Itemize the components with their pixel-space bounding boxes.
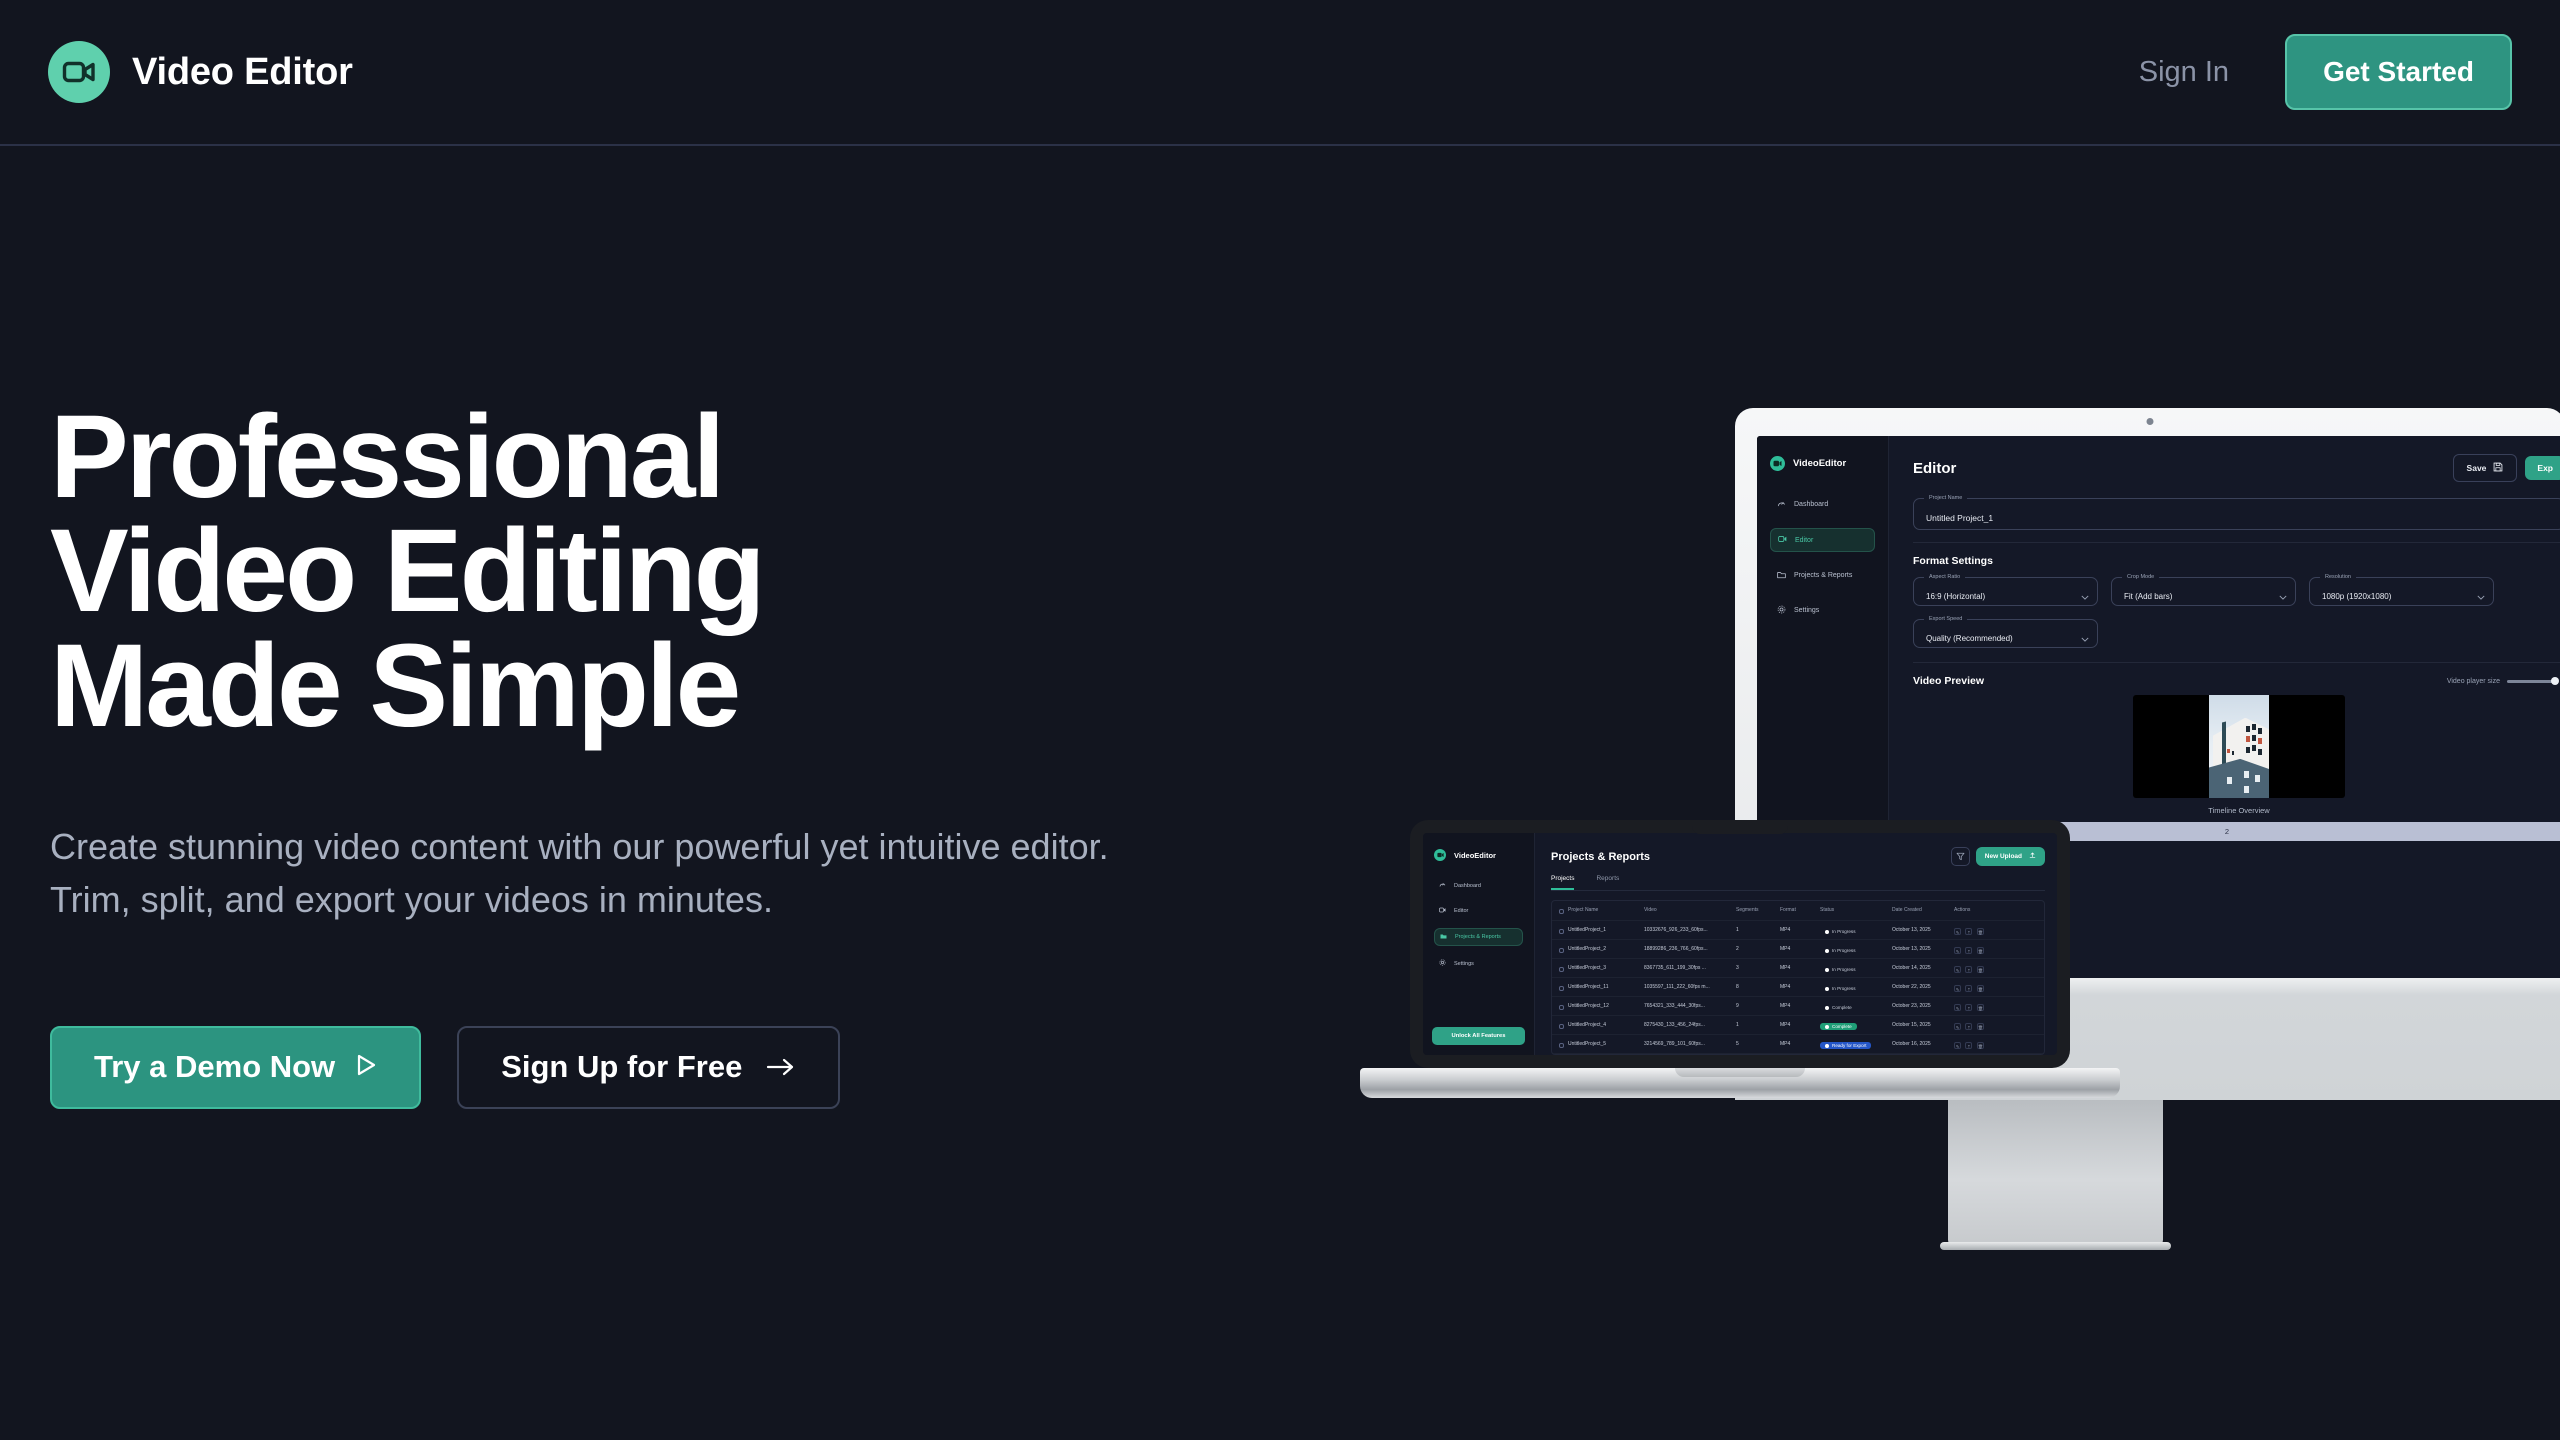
- projects-sidebar: VideoEditor Dashboard Editor: [1423, 833, 1535, 1055]
- video-camera-icon: [1434, 849, 1446, 861]
- cell-format: MP4: [1780, 1034, 1820, 1053]
- cell-segments: 1: [1736, 1015, 1780, 1034]
- cell-status: Complete: [1820, 996, 1892, 1015]
- col-date-created[interactable]: Date Created: [1892, 901, 1954, 920]
- cell-actions: ✎ ⇡ 🗑: [1954, 939, 2044, 958]
- row-checkbox[interactable]: [1552, 1053, 1568, 1055]
- cell-segments: 3: [1736, 958, 1780, 977]
- cell-status: Ready for Export: [1820, 1053, 1892, 1055]
- projects-main: Projects & Reports New Upload: [1535, 833, 2057, 1055]
- laptop-screen: VideoEditor Dashboard Editor: [1423, 833, 2057, 1055]
- row-checkbox[interactable]: [1552, 1015, 1568, 1034]
- gear-icon: [1777, 605, 1786, 616]
- export-icon[interactable]: ⇡: [1965, 928, 1972, 935]
- app-brand-name: VideoEditor: [1793, 458, 1846, 469]
- cell-format: MP4: [1780, 920, 1820, 939]
- edit-icon[interactable]: ✎: [1954, 1004, 1961, 1011]
- cell-status: In Progress: [1820, 977, 1892, 996]
- status-badge: In Progress: [1820, 966, 1861, 973]
- cell-video: 8367735_611_199_30fps ...: [1644, 958, 1736, 977]
- row-checkbox[interactable]: [1552, 1034, 1568, 1053]
- edit-icon[interactable]: ✎: [1954, 928, 1961, 935]
- header-actions: Sign In Get Started: [2139, 34, 2512, 110]
- save-button[interactable]: Save: [2453, 454, 2518, 482]
- editor-page-title: Editor: [1913, 460, 1956, 477]
- projects-page-title: Projects & Reports: [1551, 851, 1650, 863]
- cell-status: In Progress: [1820, 958, 1892, 977]
- aspect-ratio-value: 16:9 (Horizontal): [1926, 592, 1985, 601]
- table-row[interactable]: UntitledProject_110332676_926_233_60fps.…: [1552, 920, 2044, 939]
- app-brand-name: VideoEditor: [1454, 851, 1496, 860]
- cell-format: MP4: [1780, 1015, 1820, 1034]
- cell-segments: 1: [1736, 920, 1780, 939]
- cell-format: MP4: [1780, 977, 1820, 996]
- sidebar-item-label: Editor: [1795, 537, 1813, 544]
- delete-icon[interactable]: 🗑: [1977, 985, 1984, 992]
- col-actions: Actions: [1954, 901, 2044, 920]
- row-checkbox[interactable]: [1552, 977, 1568, 996]
- new-upload-button[interactable]: New Upload: [1976, 847, 2045, 866]
- cell-actions: ✎ ⇡ 🗑: [1954, 977, 2044, 996]
- cell-project-name: UntitledProject_2: [1568, 939, 1644, 958]
- edit-icon[interactable]: ✎: [1954, 966, 1961, 973]
- sidebar-item-projects-reports[interactable]: Projects & Reports: [1770, 564, 1875, 587]
- row-checkbox[interactable]: [1552, 920, 1568, 939]
- sign-in-button[interactable]: Sign In: [2139, 56, 2229, 89]
- video-player-size-label: Video player size: [2447, 678, 2500, 685]
- cell-date-created: October 13, 2025: [1892, 920, 1954, 939]
- landing-page: Video Editor Sign In Get Started Profess…: [0, 0, 2560, 1440]
- cell-project-name: UntitledProject_12: [1568, 996, 1644, 1015]
- table-row[interactable]: UntitledProject_48275430_133_456_24fps..…: [1552, 1015, 2044, 1034]
- tab-reports[interactable]: Reports: [1596, 875, 1619, 890]
- col-segments[interactable]: Segments: [1736, 901, 1780, 920]
- cell-date-created: October 22, 2025: [1892, 977, 1954, 996]
- export-speed-select[interactable]: Export Speed Quality (Recommended): [1913, 619, 2098, 648]
- laptop-body: VideoEditor Dashboard Editor: [1410, 820, 2070, 1068]
- export-icon[interactable]: ⇡: [1965, 947, 1972, 954]
- sidebar-item-label: Dashboard: [1794, 501, 1828, 508]
- col-status[interactable]: Status: [1820, 901, 1892, 920]
- device-mockups: VideoEditor Dashboard Editor: [1360, 380, 2560, 1200]
- gear-icon: [1439, 959, 1446, 968]
- cell-status: In Progress: [1820, 939, 1892, 958]
- edit-icon[interactable]: ✎: [1954, 985, 1961, 992]
- arrow-right-icon: [766, 1049, 796, 1085]
- video-camera-icon: [1770, 456, 1785, 471]
- cell-segments: 8: [1736, 977, 1780, 996]
- chevron-down-icon: [2279, 587, 2287, 605]
- sidebar-item-editor[interactable]: Editor: [1434, 903, 1523, 919]
- status-badge: Complete: [1820, 1023, 1857, 1030]
- cell-video: 1035597_111_222_60fps m...: [1644, 977, 1736, 996]
- export-icon[interactable]: ⇡: [1965, 1004, 1972, 1011]
- headline-line-2: Video Editing: [50, 514, 1110, 628]
- video-icon: [1778, 535, 1787, 545]
- hero-subtitle: Create stunning video content with our p…: [50, 821, 1110, 925]
- cell-actions: ✎ ⇡ 🗑: [1954, 1015, 2044, 1034]
- cell-video: 7654321_333_444_30fps...: [1644, 996, 1736, 1015]
- cell-format: MP4: [1780, 958, 1820, 977]
- upload-icon: [2029, 852, 2036, 861]
- select-all-checkbox[interactable]: [1552, 901, 1568, 920]
- floppy-disk-icon: [2493, 462, 2503, 474]
- brand-name: Video Editor: [132, 51, 353, 94]
- row-checkbox[interactable]: [1552, 958, 1568, 977]
- cell-status: Ready for Export: [1820, 1034, 1892, 1053]
- video-preview-title: Video Preview: [1913, 675, 1984, 687]
- delete-icon[interactable]: 🗑: [1977, 966, 1984, 973]
- new-upload-label: New Upload: [1985, 853, 2022, 860]
- laptop-base: [1360, 1068, 2120, 1098]
- projects-nav: Dashboard Editor Projects & Reports: [1434, 877, 1523, 972]
- export-icon[interactable]: ⇡: [1965, 966, 1972, 973]
- row-checkbox[interactable]: [1552, 939, 1568, 958]
- cell-format: MP4: [1780, 1053, 1820, 1055]
- status-badge: In Progress: [1820, 985, 1861, 992]
- cell-date-created: October 14, 2025: [1892, 958, 1954, 977]
- cell-video: 10332676_926_233_60fps...: [1644, 920, 1736, 939]
- delete-icon[interactable]: 🗑: [1977, 1004, 1984, 1011]
- cell-date-created: October 17, 2025: [1892, 1053, 1954, 1055]
- headline-line-1: Professional: [50, 400, 1110, 514]
- export-icon[interactable]: ⇡: [1965, 1042, 1972, 1049]
- cell-format: MP4: [1780, 939, 1820, 958]
- cell-date-created: October 13, 2025: [1892, 939, 1954, 958]
- cell-project-name: UntitledProject_3: [1568, 958, 1644, 977]
- delete-icon[interactable]: 🗑: [1977, 1042, 1984, 1049]
- cell-segments: 2: [1736, 1053, 1780, 1055]
- status-badge: Complete: [1820, 1004, 1857, 1011]
- cell-status: Complete: [1820, 1015, 1892, 1034]
- video-player-size-slider[interactable]: [2507, 677, 2559, 685]
- row-checkbox[interactable]: [1552, 996, 1568, 1015]
- brand[interactable]: Video Editor: [48, 41, 353, 103]
- project-name-field[interactable]: Project Name Untitled Project_1: [1913, 498, 2560, 530]
- projects-tabs: Projects Reports: [1551, 875, 2045, 891]
- cell-status: In Progress: [1820, 920, 1892, 939]
- cell-project-name: UntitledProject_6: [1568, 1053, 1644, 1055]
- video-preview-player[interactable]: [2133, 695, 2345, 798]
- sign-up-free-label: Sign Up for Free: [501, 1049, 742, 1085]
- table-row[interactable]: UntitledProject_66549873_456_321_30fps..…: [1552, 1053, 2044, 1055]
- sidebar-item-label: Settings: [1454, 961, 1474, 967]
- delete-icon[interactable]: 🗑: [1977, 1023, 1984, 1030]
- cell-actions: ✎ ⇡ 🗑: [1954, 1053, 2044, 1055]
- folder-icon: [1777, 570, 1786, 581]
- gauge-icon: [1777, 499, 1786, 510]
- folder-icon: [1440, 933, 1447, 941]
- status-badge: In Progress: [1820, 928, 1861, 935]
- sign-up-free-button[interactable]: Sign Up for Free: [457, 1026, 840, 1109]
- laptop-notch: [1692, 820, 1788, 834]
- cell-segments: 2: [1736, 939, 1780, 958]
- headline-line-3: Made Simple: [50, 629, 1110, 743]
- tab-projects[interactable]: Projects: [1551, 875, 1574, 890]
- table-row[interactable]: UntitledProject_53214569_789_101_60fps..…: [1552, 1034, 2044, 1053]
- sidebar-item-settings[interactable]: Settings: [1434, 955, 1523, 972]
- cell-video: 6549873_456_321_30fps...: [1644, 1053, 1736, 1055]
- crop-mode-value: Fit (Add bars): [2124, 592, 2172, 601]
- chevron-down-icon: [2081, 587, 2089, 605]
- table-head: Project Name Video Segments Format Statu…: [1552, 901, 2044, 920]
- export-icon[interactable]: ⇡: [1965, 1023, 1972, 1030]
- unlock-all-features-button[interactable]: Unlock All Features: [1432, 1027, 1525, 1045]
- video-camera-icon: [48, 41, 110, 103]
- edit-icon[interactable]: ✎: [1954, 947, 1961, 954]
- export-speed-value: Quality (Recommended): [1926, 634, 2013, 643]
- edit-icon[interactable]: ✎: [1954, 1042, 1961, 1049]
- sidebar-item-editor[interactable]: Editor: [1770, 528, 1875, 552]
- gauge-icon: [1439, 881, 1446, 890]
- cell-project-name: UntitledProject_11: [1568, 977, 1644, 996]
- crop-mode-label: Crop Mode: [2122, 574, 2159, 580]
- table-row[interactable]: UntitledProject_38367735_611_199_30fps .…: [1552, 958, 2044, 977]
- project-name-label: Project Name: [1924, 495, 1967, 501]
- save-label: Save: [2467, 463, 2487, 473]
- table-row[interactable]: UntitledProject_127654321_333_444_30fps.…: [1552, 996, 2044, 1015]
- cell-project-name: UntitledProject_5: [1568, 1034, 1644, 1053]
- status-badge: In Progress: [1820, 947, 1861, 954]
- crop-mode-select[interactable]: Crop Mode Fit (Add bars): [2111, 577, 2296, 606]
- cta-row: Try a Demo Now Sign Up for Free: [50, 1026, 1110, 1109]
- delete-icon[interactable]: 🗑: [1977, 928, 1984, 935]
- sidebar-item-dashboard[interactable]: Dashboard: [1434, 877, 1523, 894]
- editor-nav: Dashboard Editor Projects & Reports: [1770, 493, 1875, 622]
- cell-actions: ✎ ⇡ 🗑: [1954, 996, 2044, 1015]
- cell-video: 3214569_789_101_60fps...: [1644, 1034, 1736, 1053]
- resolution-label: Resolution: [2320, 574, 2356, 580]
- export-button[interactable]: Exp: [2525, 456, 2560, 480]
- sidebar-item-label: Projects & Reports: [1794, 572, 1852, 579]
- cell-date-created: October 15, 2025: [1892, 1015, 1954, 1034]
- cell-project-name: UntitledProject_4: [1568, 1015, 1644, 1034]
- site-header: Video Editor Sign In Get Started: [0, 0, 2560, 146]
- cell-video: 8275430_133_456_24fps...: [1644, 1015, 1736, 1034]
- sidebar-item-settings[interactable]: Settings: [1770, 599, 1875, 622]
- cell-date-created: October 23, 2025: [1892, 996, 1954, 1015]
- sidebar-item-label: Settings: [1794, 607, 1819, 614]
- cell-format: MP4: [1780, 996, 1820, 1015]
- col-project-name[interactable]: Project Name: [1568, 901, 1644, 920]
- delete-icon[interactable]: 🗑: [1977, 947, 1984, 954]
- try-demo-button[interactable]: Try a Demo Now: [50, 1026, 421, 1109]
- monitor-stand: [1948, 1100, 2163, 1245]
- video-icon: [1439, 907, 1446, 915]
- col-video[interactable]: Video: [1644, 901, 1736, 920]
- table-row[interactable]: UntitledProject_218899286_236_766_60fps.…: [1552, 939, 2044, 958]
- cell-project-name: UntitledProject_1: [1568, 920, 1644, 939]
- edit-icon[interactable]: ✎: [1954, 1023, 1961, 1030]
- projects-app: VideoEditor Dashboard Editor: [1423, 833, 2057, 1055]
- funnel-icon[interactable]: [1951, 847, 1970, 866]
- export-label: Exp: [2537, 463, 2553, 473]
- aspect-ratio-select[interactable]: Aspect Ratio 16:9 (Horizontal): [1913, 577, 2098, 606]
- status-badge: Ready for Export: [1820, 1042, 1871, 1049]
- editor-topbar: Editor Save Exp: [1913, 454, 2560, 482]
- sidebar-item-label: Editor: [1454, 908, 1468, 914]
- project-name-value: Untitled Project_1: [1926, 513, 1993, 523]
- export-speed-label: Export Speed: [1924, 616, 1967, 622]
- try-demo-label: Try a Demo Now: [94, 1049, 335, 1085]
- sidebar-item-dashboard[interactable]: Dashboard: [1770, 493, 1875, 516]
- webcam-dot-icon: [2147, 418, 2154, 425]
- laptop-mockup: VideoEditor Dashboard Editor: [1360, 820, 2120, 1110]
- page-title: Professional Video Editing Made Simple: [50, 400, 1110, 743]
- cell-actions: ✎ ⇡ 🗑: [1954, 958, 2044, 977]
- app-brand: VideoEditor: [1770, 456, 1875, 471]
- table-body: UntitledProject_110332676_926_233_60fps.…: [1552, 920, 2044, 1055]
- sidebar-item-label: Projects & Reports: [1455, 934, 1501, 940]
- app-brand: VideoEditor: [1434, 849, 1523, 861]
- col-format[interactable]: Format: [1780, 901, 1820, 920]
- format-settings-title: Format Settings: [1913, 555, 2560, 567]
- projects-table: Project Name Video Segments Format Statu…: [1552, 901, 2044, 1055]
- cell-segments: 9: [1736, 996, 1780, 1015]
- aspect-ratio-label: Aspect Ratio: [1924, 574, 1965, 580]
- export-icon[interactable]: ⇡: [1965, 985, 1972, 992]
- resolution-select[interactable]: Resolution 1080p (1920x1080): [2309, 577, 2494, 606]
- play-triangle-icon: [355, 1049, 377, 1085]
- chevron-down-icon: [2081, 629, 2089, 647]
- sidebar-item-label: Dashboard: [1454, 883, 1481, 889]
- resolution-value: 1080p (1920x1080): [2322, 592, 2391, 601]
- cell-video: 18899286_236_766_60fps...: [1644, 939, 1736, 958]
- preview-thumbnail: [2209, 695, 2269, 798]
- projects-table-wrap: Project Name Video Segments Format Statu…: [1551, 900, 2045, 1055]
- cell-actions: ✎ ⇡ 🗑: [1954, 920, 2044, 939]
- hero-section: Professional Video Editing Made Simple C…: [50, 400, 1110, 1109]
- cell-segments: 5: [1736, 1034, 1780, 1053]
- cell-date-created: October 16, 2025: [1892, 1034, 1954, 1053]
- sidebar-item-projects-reports[interactable]: Projects & Reports: [1434, 928, 1523, 946]
- timeline-overview-label: Timeline Overview: [1913, 806, 2560, 815]
- get-started-button[interactable]: Get Started: [2285, 34, 2512, 110]
- cell-actions: ✎ ⇡ 🗑: [1954, 1034, 2044, 1053]
- chevron-down-icon: [2477, 587, 2485, 605]
- projects-topbar: Projects & Reports New Upload: [1551, 847, 2045, 866]
- table-row[interactable]: UntitledProject_111035597_111_222_60fps …: [1552, 977, 2044, 996]
